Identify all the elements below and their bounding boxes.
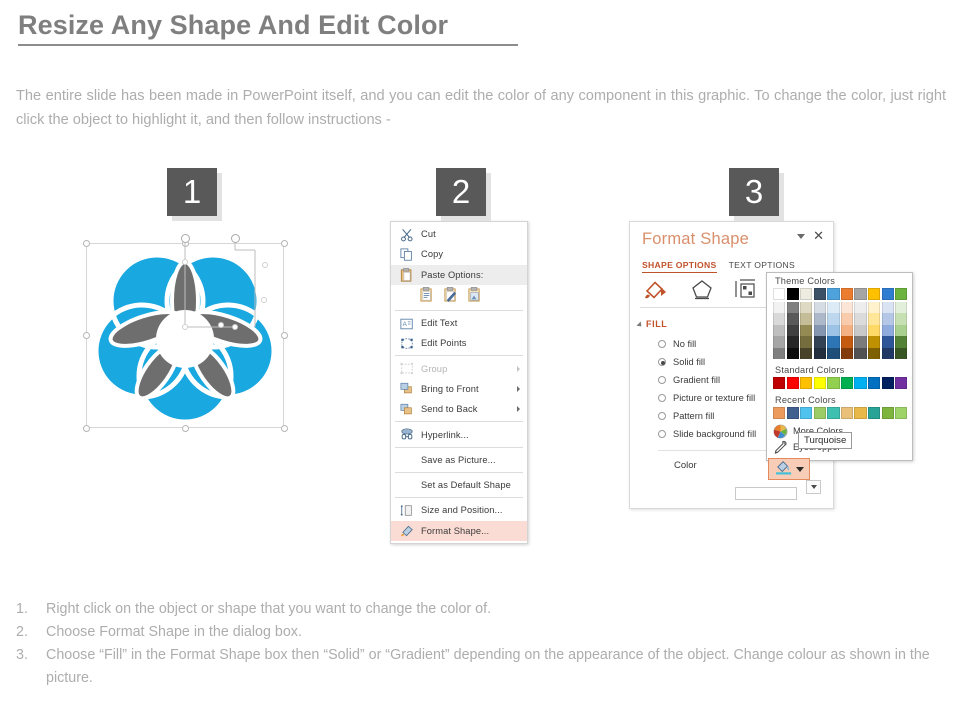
menu-item-label: Edit Text (421, 318, 457, 328)
menu-item-label: Group (421, 364, 447, 374)
menu-separator (395, 355, 523, 356)
theme-tint-1-1[interactable] (787, 313, 799, 324)
chevron-down-icon[interactable] (797, 234, 805, 239)
standard-swatch-0[interactable] (773, 377, 785, 389)
radio-label: No fill (673, 339, 696, 349)
standard-swatch-7[interactable] (868, 377, 880, 389)
theme-swatch-0[interactable] (773, 288, 785, 300)
send-to-back-icon (397, 402, 417, 417)
theme-tint-8-4[interactable] (882, 348, 894, 359)
theme-swatch-3[interactable] (814, 288, 826, 300)
recent-colors-heading: Recent Colors (767, 389, 912, 407)
list-item-text: Right click on the object or shape that … (46, 598, 946, 621)
theme-tint-5-0[interactable] (841, 302, 853, 313)
theme-tint-3-2[interactable] (814, 325, 826, 336)
theme-tint-3-3[interactable] (814, 336, 826, 347)
theme-tint-1-4[interactable] (787, 348, 799, 359)
theme-tint-column-5[interactable] (841, 302, 853, 359)
theme-tint-column-2[interactable] (800, 302, 812, 359)
menu-item-edit-text[interactable]: A Edit Text (391, 313, 527, 333)
list-item: 2. Choose Format Shape in the dialog box… (16, 621, 946, 644)
theme-tint-column-6[interactable] (854, 302, 866, 359)
radio-label: Slide background fill (673, 429, 756, 439)
theme-tint-column-7[interactable] (868, 302, 880, 359)
bring-to-front-icon (397, 381, 417, 396)
standard-swatch-1[interactable] (787, 377, 799, 389)
recent-swatch-0[interactable] (773, 407, 785, 419)
list-item-number: 2. (16, 621, 46, 644)
list-item-text: Choose “Fill” in the Format Shape box th… (46, 644, 946, 690)
theme-tint-8-0[interactable] (882, 302, 894, 313)
list-item-number: 1. (16, 598, 46, 621)
standard-swatch-3[interactable] (814, 377, 826, 389)
title-underline (18, 44, 518, 46)
format-shape-title: Format Shape (642, 230, 749, 249)
size-properties-icon[interactable] (734, 278, 758, 305)
theme-tint-3-4[interactable] (814, 348, 826, 359)
theme-colors-heading: Theme Colors (767, 273, 912, 288)
theme-tint-4-2[interactable] (827, 325, 839, 336)
recent-colors-row[interactable] (767, 407, 912, 419)
edit-points-icon (397, 336, 417, 351)
shape-adjust-guides (150, 232, 270, 342)
edit-text-icon: A (397, 316, 417, 331)
paste-keep-source-formatting-icon[interactable] (419, 287, 434, 303)
theme-tint-5-2[interactable] (841, 325, 853, 336)
intro-paragraph: The entire slide has been made in PowerP… (16, 84, 946, 132)
radio-pattern-fill[interactable]: Pattern fill (658, 407, 756, 425)
theme-swatch-8[interactable] (882, 288, 894, 300)
adjust-handle-right[interactable] (232, 324, 238, 330)
paste-picture-icon[interactable] (467, 287, 482, 303)
theme-tint-column-1[interactable] (787, 302, 799, 359)
color-spinner-button[interactable] (806, 480, 821, 494)
step-badge-3: 3 (729, 168, 779, 216)
recent-swatch-9[interactable] (895, 407, 907, 419)
effects-icon[interactable] (690, 278, 714, 305)
theme-tint-0-2[interactable] (773, 325, 785, 336)
resize-handle-sw[interactable] (83, 425, 90, 432)
menu-item-save-as-picture[interactable]: Save as Picture... (391, 450, 527, 470)
theme-tint-2-0[interactable] (800, 302, 812, 313)
adjust-handle-edge[interactable] (262, 262, 268, 268)
menu-item-paste-options[interactable]: Paste Options: (391, 265, 527, 285)
radio-no-fill[interactable]: No fill (658, 335, 756, 353)
resize-handle-nw[interactable] (83, 240, 90, 247)
menu-item-send-to-back[interactable]: Send to Back (391, 399, 527, 419)
theme-tint-0-1[interactable] (773, 313, 785, 324)
standard-swatch-2[interactable] (800, 377, 812, 389)
menu-item-hyperlink[interactable]: Hyperlink... (391, 424, 527, 444)
theme-tint-column-0[interactable] (773, 302, 785, 359)
theme-tint-column-3[interactable] (814, 302, 826, 359)
radio-label: Gradient fill (673, 375, 720, 385)
copy-icon (397, 247, 417, 262)
theme-tint-1-3[interactable] (787, 336, 799, 347)
theme-tint-6-3[interactable] (854, 336, 866, 347)
theme-swatch-1[interactable] (787, 288, 799, 300)
recent-swatch-8[interactable] (882, 407, 894, 419)
theme-swatch-5[interactable] (841, 288, 853, 300)
page-title: Resize Any Shape And Edit Color (18, 10, 448, 41)
radio-picture-or-texture-fill[interactable]: Picture or texture fill (658, 389, 756, 407)
color-tooltip: Turquoise (798, 432, 852, 449)
theme-tint-6-0[interactable] (854, 302, 866, 313)
color-field-label: Color (674, 460, 697, 471)
theme-tint-1-0[interactable] (787, 302, 799, 313)
menu-item-label: Paste Options: (421, 270, 483, 280)
menu-separator (395, 421, 523, 422)
theme-tint-6-2[interactable] (854, 325, 866, 336)
theme-tint-7-4[interactable] (868, 348, 880, 359)
close-icon[interactable]: ✕ (813, 230, 824, 242)
menu-separator (395, 447, 523, 448)
paste-use-destination-theme-icon[interactable] (443, 287, 458, 303)
menu-item-format-shape[interactable]: Format Shape... (391, 521, 527, 541)
fill-options-list[interactable]: No fill Solid fill Gradient fill Picture… (658, 335, 756, 443)
standard-swatch-4[interactable] (827, 377, 839, 389)
caret-down-icon (796, 467, 804, 472)
theme-tint-7-2[interactable] (868, 325, 880, 336)
menu-item-label: Set as Default Shape (421, 480, 511, 490)
resize-handle-se[interactable] (281, 425, 288, 432)
paste-options-row[interactable] (391, 285, 527, 308)
resize-handle-s[interactable] (182, 425, 189, 432)
theme-colors-row[interactable] (767, 288, 912, 300)
theme-tint-column-4[interactable] (827, 302, 839, 359)
recent-swatch-3[interactable] (814, 407, 826, 419)
list-item: 3. Choose “Fill” in the Format Shape box… (16, 644, 946, 690)
menu-separator (395, 497, 523, 498)
theme-tint-2-3[interactable] (800, 336, 812, 347)
step-badge-2: 2 (436, 168, 486, 216)
adjust-handle-side[interactable] (261, 297, 267, 303)
theme-tint-3-0[interactable] (814, 302, 826, 313)
menu-item-label: Save as Picture... (421, 455, 496, 465)
menu-item-size-and-position[interactable]: Size and Position... (391, 500, 527, 520)
radio-label: Pattern fill (673, 411, 714, 421)
menu-item-label: Bring to Front (421, 384, 479, 394)
recent-swatch-1[interactable] (787, 407, 799, 419)
theme-tint-4-0[interactable] (827, 302, 839, 313)
resize-handle-e[interactable] (281, 332, 288, 339)
radio-label: Solid fill (673, 357, 705, 367)
menu-item-label: Hyperlink... (421, 430, 469, 440)
recent-swatch-5[interactable] (841, 407, 853, 419)
theme-tint-9-0[interactable] (895, 302, 907, 313)
theme-tint-4-1[interactable] (827, 313, 839, 324)
eyedropper-icon (773, 440, 789, 454)
menu-item-set-as-default-shape[interactable]: Set as Default Shape (391, 475, 527, 495)
adjust-handle-leaf[interactable] (218, 322, 224, 328)
rotate-handle-left[interactable] (181, 234, 190, 243)
list-item: 1. Right click on the object or shape th… (16, 598, 946, 621)
fill-section-heading: FILL (646, 319, 667, 329)
theme-swatch-2[interactable] (800, 288, 812, 300)
theme-swatch-7[interactable] (868, 288, 880, 300)
radio-icon (658, 430, 666, 438)
caret-down-icon (811, 485, 817, 489)
format-shape-icon (397, 523, 417, 538)
submenu-arrow-icon (517, 366, 520, 372)
theme-tint-2-1[interactable] (800, 313, 812, 324)
standard-colors-heading: Standard Colors (767, 359, 912, 377)
theme-tint-column-8[interactable] (882, 302, 894, 359)
theme-tints-grid[interactable] (767, 302, 912, 359)
theme-tint-6-1[interactable] (854, 313, 866, 324)
theme-tint-4-4[interactable] (827, 348, 839, 359)
theme-tint-9-1[interactable] (895, 313, 907, 324)
tab-shape-options[interactable]: SHAPE OPTIONS (642, 260, 717, 273)
menu-item-label: Copy (421, 249, 443, 259)
theme-tint-3-1[interactable] (814, 313, 826, 324)
radio-icon (658, 340, 666, 348)
hyperlink-icon (397, 427, 417, 442)
rotate-handle-right[interactable] (231, 234, 240, 243)
adjust-handle-center[interactable] (182, 324, 188, 330)
recent-swatch-4[interactable] (827, 407, 839, 419)
fill-line-icon[interactable] (644, 278, 670, 305)
menu-item-cut[interactable]: Cut (391, 224, 527, 244)
theme-tint-8-2[interactable] (882, 325, 894, 336)
standard-colors-row[interactable] (767, 377, 912, 389)
theme-tint-1-2[interactable] (787, 325, 799, 336)
color-wheel-icon (773, 424, 789, 438)
resize-handle-w[interactable] (83, 332, 90, 339)
theme-tint-9-4[interactable] (895, 348, 907, 359)
theme-tint-9-2[interactable] (895, 325, 907, 336)
standard-swatch-8[interactable] (882, 377, 894, 389)
theme-tint-5-1[interactable] (841, 313, 853, 324)
theme-tint-4-3[interactable] (827, 336, 839, 347)
theme-tint-5-3[interactable] (841, 336, 853, 347)
theme-tint-0-0[interactable] (773, 302, 785, 313)
instruction-list: 1. Right click on the object or shape th… (16, 598, 946, 690)
menu-item-copy[interactable]: Copy (391, 244, 527, 264)
theme-swatch-9[interactable] (895, 288, 907, 300)
menu-item-label: Send to Back (421, 404, 478, 414)
theme-tint-5-4[interactable] (841, 348, 853, 359)
theme-tint-7-1[interactable] (868, 313, 880, 324)
theme-tint-column-9[interactable] (895, 302, 907, 359)
menu-item-bring-to-front[interactable]: Bring to Front (391, 379, 527, 399)
list-item-number: 3. (16, 644, 46, 690)
radio-icon (658, 394, 666, 402)
theme-tint-6-4[interactable] (854, 348, 866, 359)
theme-swatch-6[interactable] (854, 288, 866, 300)
menu-item-label: Format Shape... (421, 526, 489, 536)
submenu-arrow-icon (517, 386, 520, 392)
fill-color-icon (775, 459, 793, 480)
radio-solid-fill[interactable]: Solid fill (658, 353, 756, 371)
radio-slide-background-fill[interactable]: Slide background fill (658, 425, 756, 443)
radio-icon (658, 358, 666, 366)
size-position-icon (397, 503, 417, 518)
theme-tint-0-3[interactable] (773, 336, 785, 347)
menu-item-label: Cut (421, 229, 436, 239)
theme-tint-7-3[interactable] (868, 336, 880, 347)
radio-label: Picture or texture fill (673, 393, 755, 403)
slide-canvas: Resize Any Shape And Edit Color The enti… (0, 0, 960, 720)
adjust-handle-top[interactable] (182, 259, 188, 265)
theme-tint-8-3[interactable] (882, 336, 894, 347)
paste-icon (397, 267, 417, 282)
none-icon (397, 452, 417, 467)
context-menu[interactable]: Cut Copy Paste Options: (390, 221, 528, 544)
radio-gradient-fill[interactable]: Gradient fill (658, 371, 756, 389)
theme-tint-8-1[interactable] (882, 313, 894, 324)
theme-tint-9-3[interactable] (895, 336, 907, 347)
radio-icon (658, 376, 666, 384)
submenu-arrow-icon (517, 406, 520, 412)
menu-item-group: Group (391, 358, 527, 378)
theme-tint-0-4[interactable] (773, 348, 785, 359)
menu-separator (395, 472, 523, 473)
menu-item-label: Edit Points (421, 338, 467, 348)
menu-item-edit-points[interactable]: Edit Points (391, 333, 527, 353)
standard-swatch-9[interactable] (895, 377, 907, 389)
theme-swatch-4[interactable] (827, 288, 839, 300)
step-badge-1: 1 (167, 168, 217, 216)
fill-color-button[interactable] (768, 458, 810, 480)
standard-swatch-6[interactable] (854, 377, 866, 389)
group-icon (397, 361, 417, 376)
recent-swatch-7[interactable] (868, 407, 880, 419)
theme-tint-2-4[interactable] (800, 348, 812, 359)
theme-tint-2-2[interactable] (800, 325, 812, 336)
list-item-text: Choose Format Shape in the dialog box. (46, 621, 946, 644)
color-value-box[interactable] (735, 487, 797, 500)
recent-swatch-6[interactable] (854, 407, 866, 419)
none-icon (397, 478, 417, 493)
recent-swatch-2[interactable] (800, 407, 812, 419)
standard-swatch-5[interactable] (841, 377, 853, 389)
format-shape-icon-row[interactable] (644, 278, 758, 305)
resize-handle-ne[interactable] (281, 240, 288, 247)
radio-icon (658, 412, 666, 420)
scissors-icon (397, 227, 417, 242)
menu-separator (395, 310, 523, 311)
menu-item-label: Size and Position... (421, 505, 503, 515)
collapse-triangle-icon[interactable] (636, 321, 643, 328)
theme-tint-7-0[interactable] (868, 302, 880, 313)
